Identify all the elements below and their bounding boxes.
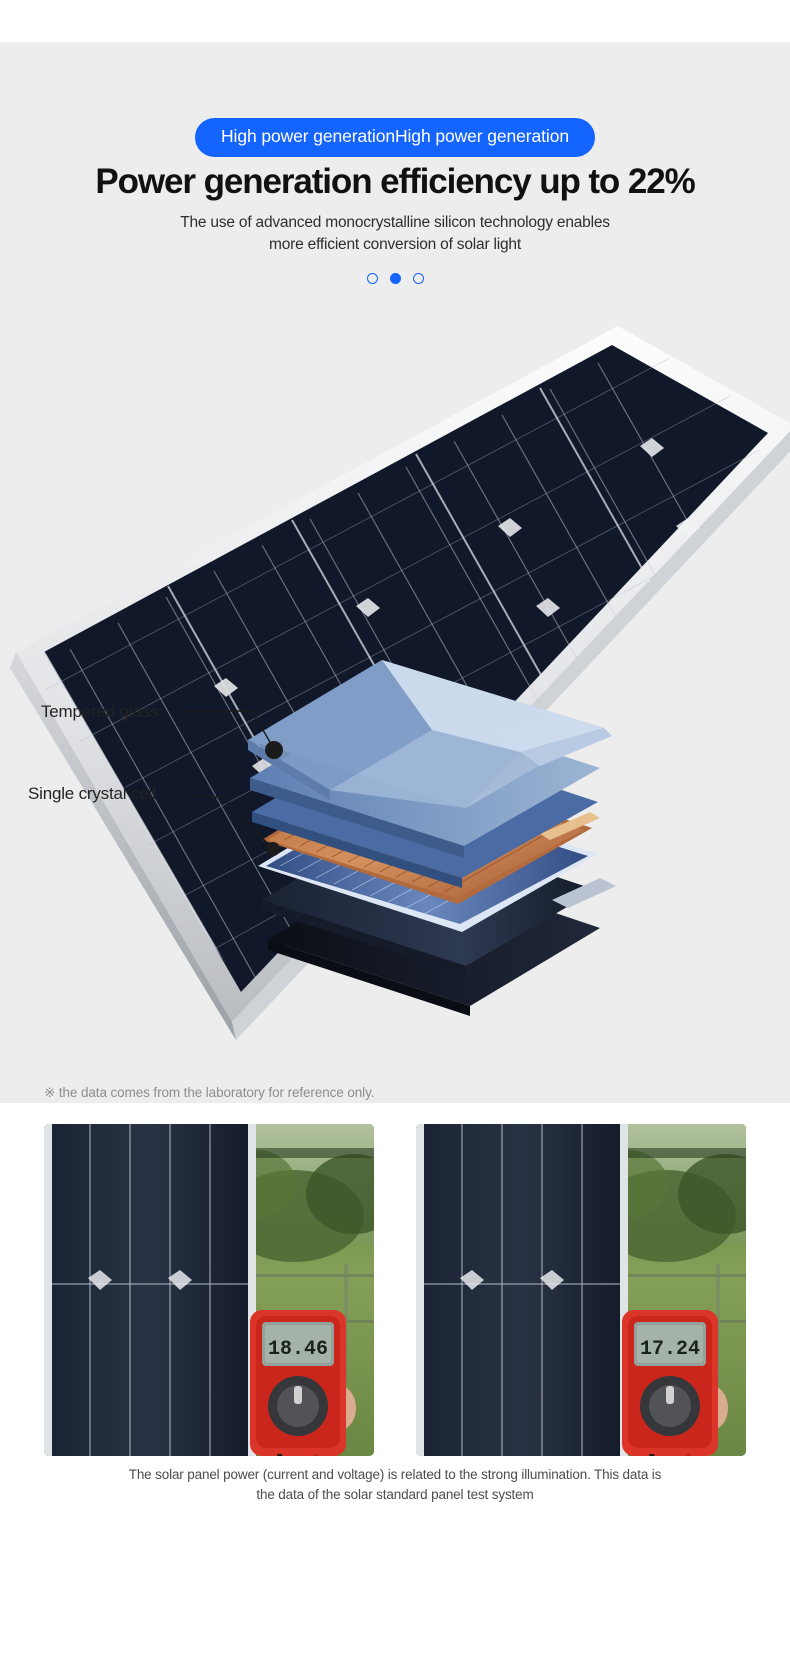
exploded-panel-diagram: Tempered glass Single crystal cell Alumi… [0, 300, 790, 1103]
caption-line-2: the data of the solar standard panel tes… [0, 1485, 790, 1505]
page-title: Power generation efficiency up to 22% [0, 160, 790, 204]
carousel-dot-3[interactable] [413, 273, 424, 284]
test-photo-right[interactable]: 17.24 [416, 1124, 746, 1456]
badge-row: High power generationHigh power generati… [0, 118, 790, 157]
carousel-dots[interactable] [0, 273, 790, 284]
page-subtitle: The use of advanced monocrystalline sili… [0, 212, 790, 256]
subtitle-line-2: more efficient conversion of solar light [0, 234, 790, 256]
lab-disclaimer: ※ the data comes from the laboratory for… [44, 1085, 374, 1101]
callout-dot-tempered-glass [265, 741, 283, 759]
callout-dot-single-crystal-cell [266, 842, 280, 856]
feature-badge: High power generationHigh power generati… [195, 118, 595, 157]
hero-top-spacer [0, 0, 790, 42]
test-photo-left[interactable]: 18.46 [44, 1124, 374, 1456]
test-photo-caption: The solar panel power (current and volta… [0, 1465, 790, 1506]
carousel-dot-1[interactable] [367, 273, 378, 284]
callout-label-single-crystal-cell: Single crystal cell [28, 784, 156, 804]
callout-label-tempered-glass: Tempered glass [41, 702, 158, 722]
test-photo-gallery: 18.46 [44, 1124, 746, 1456]
caption-line-1: The solar panel power (current and volta… [0, 1465, 790, 1485]
subtitle-line-1: The use of advanced monocrystalline sili… [0, 212, 790, 234]
carousel-dot-2[interactable] [390, 273, 401, 284]
hero-section: High power generationHigh power generati… [0, 0, 790, 1103]
